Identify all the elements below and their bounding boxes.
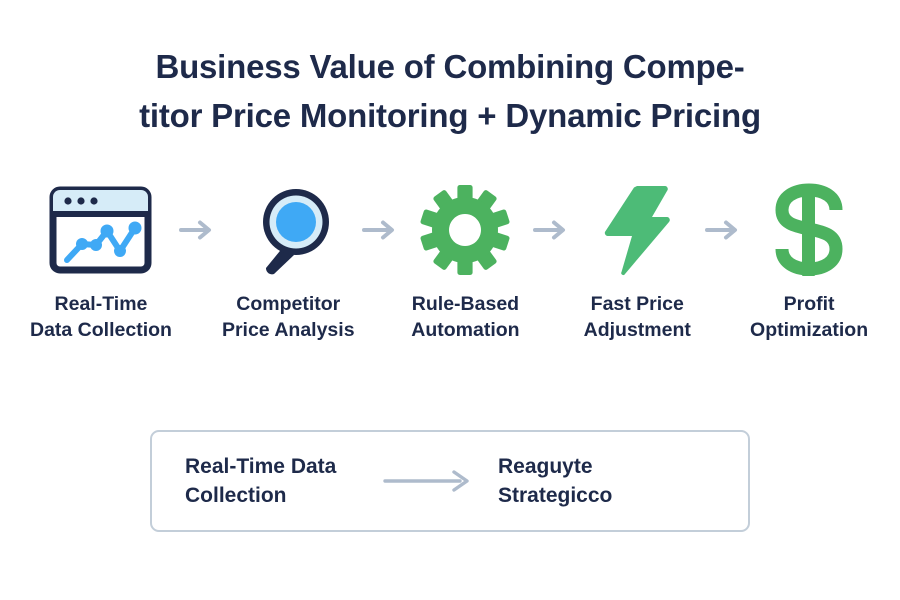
page-title-line-1: Business Value of Combining Compe- xyxy=(0,42,900,91)
arrow-right-long-icon xyxy=(370,468,490,494)
process-flow: Real-Time Data Collection Competitor Pri… xyxy=(30,182,870,343)
flow-step-label-line-2: Automation xyxy=(411,317,519,343)
callout-source-line-2: Collection xyxy=(185,481,370,510)
flow-step-fast-price-adjustment: Fast Price Adjustment xyxy=(576,182,698,343)
flow-step-label-line-2: Adjustment xyxy=(584,317,691,343)
arrow-right-icon xyxy=(526,182,576,278)
flow-step-label-line-1: Fast Price xyxy=(584,291,691,317)
callout-source-label: Real-Time Data Collection xyxy=(185,452,370,510)
flow-step-label: Fast Price Adjustment xyxy=(584,291,691,343)
flow-step-label: Rule-Based Automation xyxy=(411,291,519,343)
dollar-sign-icon xyxy=(773,182,845,278)
flow-step-label-line-1: Competitor xyxy=(222,291,355,317)
callout-source-line-1: Real-Time Data xyxy=(185,452,370,481)
flow-step-label-line-2: Optimization xyxy=(750,317,868,343)
arrow-right-icon xyxy=(698,182,748,278)
flow-step-label-line-1: Real-Time xyxy=(30,291,172,317)
gear-icon xyxy=(419,182,511,278)
flow-step-label: Real-Time Data Collection xyxy=(30,291,172,343)
flow-step-competitor-price-analysis: Competitor Price Analysis xyxy=(222,182,355,343)
page-title-line-2: titor Price Monitoring + Dynamic Pricing xyxy=(0,91,900,140)
flow-step-label-line-1: Rule-Based xyxy=(411,291,519,317)
summary-callout-box: Real-Time Data Collection Reaguyte Strat… xyxy=(150,430,750,532)
flow-step-real-time-data-collection: Real-Time Data Collection xyxy=(30,182,172,343)
arrow-right-icon xyxy=(355,182,405,278)
magnifying-glass-icon xyxy=(240,182,336,278)
callout-target-line-1: Reaguyte xyxy=(498,452,612,481)
callout-target-line-2: Strategicco xyxy=(498,481,612,510)
flow-step-label-line-2: Price Analysis xyxy=(222,317,355,343)
callout-target-label: Reaguyte Strategicco xyxy=(498,452,612,510)
flow-step-label: Profit Optimization xyxy=(750,291,868,343)
flow-step-label: Competitor Price Analysis xyxy=(222,291,355,343)
flow-step-label-line-1: Profit xyxy=(750,291,868,317)
page-title: Business Value of Combining Compe- titor… xyxy=(0,42,900,140)
flow-step-label-line-2: Data Collection xyxy=(30,317,172,343)
arrow-right-icon xyxy=(172,182,222,278)
flow-step-profit-optimization: Profit Optimization xyxy=(748,182,870,343)
flow-step-rule-based-automation: Rule-Based Automation xyxy=(405,182,527,343)
lightning-bolt-icon xyxy=(603,182,671,278)
browser-line-chart-icon xyxy=(49,182,152,278)
